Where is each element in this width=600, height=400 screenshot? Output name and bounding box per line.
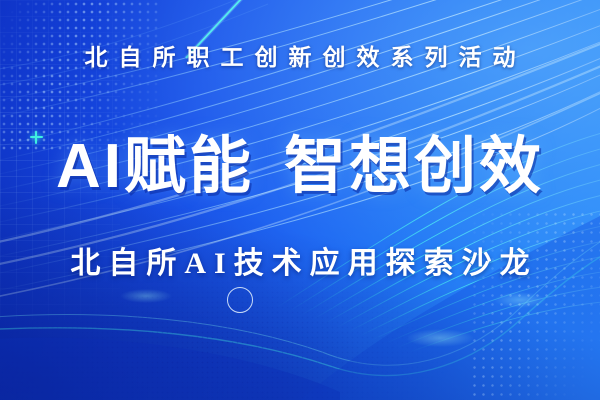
poster-content: 北自所职工创新创效系列活动 AI赋能智想创效 北自所AI技术应用探索沙龙 [0,0,600,400]
headline-part-2: 智想创效 [284,132,544,201]
page-title: AI赋能智想创效 [0,133,600,201]
circle-outline-icon [227,287,253,313]
page-subtitle: 北自所AI技术应用探索沙龙 [0,238,600,282]
event-series-label: 北自所职工创新创效系列活动 [0,38,600,72]
event-poster-banner: 北自所职工创新创效系列活动 AI赋能智想创效 北自所AI技术应用探索沙龙 [0,0,600,400]
headline-part-1: AI赋能 [56,132,254,201]
